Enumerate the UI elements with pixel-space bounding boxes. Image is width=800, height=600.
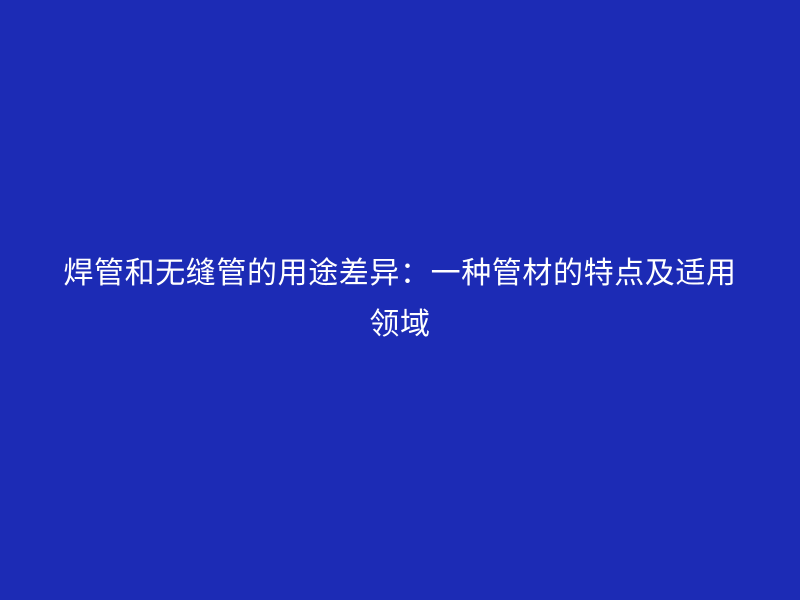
title-block: 焊管和无缝管的用途差异：一种管材的特点及适用领域 (50, 248, 750, 350)
page-title: 焊管和无缝管的用途差异：一种管材的特点及适用领域 (50, 248, 750, 350)
title-card: 焊管和无缝管的用途差异：一种管材的特点及适用领域 (0, 0, 800, 600)
